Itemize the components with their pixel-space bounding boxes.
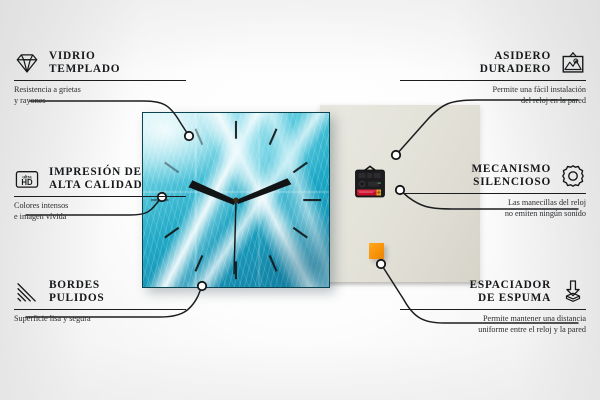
feature-vidrio-templado: VIDRIO TEMPLADO Resistencia a grietas y …	[14, 50, 186, 106]
feature-title-group: VIDRIO TEMPLADO	[49, 50, 120, 77]
feature-espaciador-de-espuma: ESPACIADOR DE ESPUMA Permite mantener un…	[400, 279, 586, 335]
gear-icon	[560, 163, 586, 189]
feature-divider	[14, 80, 186, 81]
feature-title-group: IMPRESIÓN DE ALTA CALIDAD	[49, 166, 142, 193]
feature-title-line1: BORDES	[49, 279, 104, 292]
feature-title-group: ASIDERO DURADERO	[480, 50, 551, 77]
feature-title-line1: MECANISMO	[471, 163, 551, 176]
feature-title-line1: ASIDERO	[480, 50, 551, 63]
feature-description: Superficie lisa y segura	[14, 314, 186, 324]
feature-divider	[400, 193, 586, 194]
feature-title-group: BORDES PULIDOS	[49, 279, 104, 306]
feature-title-line1: ESPACIADOR	[470, 279, 551, 292]
feature-title-line2: ALTA CALIDAD	[49, 179, 142, 192]
feature-title-line1: VIDRIO	[49, 50, 120, 63]
diamond-icon	[14, 50, 40, 76]
feature-title-line1: IMPRESIÓN DE	[49, 166, 142, 179]
feature-title-line2: DE ESPUMA	[470, 292, 551, 305]
feature-header: BORDES PULIDOS	[14, 279, 186, 306]
feature-header: ESPACIADOR DE ESPUMA	[400, 279, 586, 306]
feature-header: ASIDERO DURADERO	[400, 50, 586, 77]
feature-description: Permite una fácil instalación del reloj …	[400, 85, 586, 106]
feature-asidero-duradero: ASIDERO DURADERO Permite una fácil insta…	[400, 50, 586, 106]
feature-title-line2: TEMPLADO	[49, 63, 120, 76]
feature-title-line2: SILENCIOSO	[471, 176, 551, 189]
ultra-hd-icon: ultra HD	[14, 166, 40, 192]
feature-divider	[400, 309, 586, 310]
quartz-movement	[350, 163, 390, 203]
feature-description: Resistencia a grietas y rayones	[14, 85, 186, 106]
infographic-canvas: VIDRIO TEMPLADO Resistencia a grietas y …	[0, 0, 600, 400]
feature-bordes-pulidos: BORDES PULIDOS Superficie lisa y segura	[14, 279, 186, 325]
clock-minute-hand	[236, 178, 291, 204]
feature-description: Permite mantener una distancia uniforme …	[400, 314, 586, 335]
polished-edge-icon	[14, 279, 40, 305]
feature-description: Las manecillas del reloj no emiten ningú…	[400, 198, 586, 219]
feature-title-group: MECANISMO SILENCIOSO	[471, 163, 551, 190]
foam-spacer-pad	[369, 243, 384, 259]
feature-header: MECANISMO SILENCIOSO	[400, 163, 586, 190]
feature-header: ultra HD IMPRESIÓN DE ALTA CALIDAD	[14, 166, 186, 193]
feature-impresion-alta-calidad: ultra HD IMPRESIÓN DE ALTA CALIDAD Color…	[14, 166, 186, 222]
clock-center-cap	[233, 197, 238, 202]
feature-description: Colores intensos e imagen vívida	[14, 201, 186, 222]
feature-title-line2: DURADERO	[480, 63, 551, 76]
feature-mecanismo-silencioso: MECANISMO SILENCIOSO Las manecillas del …	[400, 163, 586, 219]
ultra-hd-icon-label-bottom: HD	[21, 178, 33, 187]
feature-title-group: ESPACIADOR DE ESPUMA	[470, 279, 551, 306]
feature-divider	[14, 196, 186, 197]
feature-divider	[400, 80, 586, 81]
hanging-picture-icon	[560, 50, 586, 76]
clock-hour-hand	[189, 180, 236, 205]
feature-title-line2: PULIDOS	[49, 292, 104, 305]
foam-spacer-icon	[560, 279, 586, 305]
feature-header: VIDRIO TEMPLADO	[14, 50, 186, 77]
feature-divider	[14, 309, 186, 310]
